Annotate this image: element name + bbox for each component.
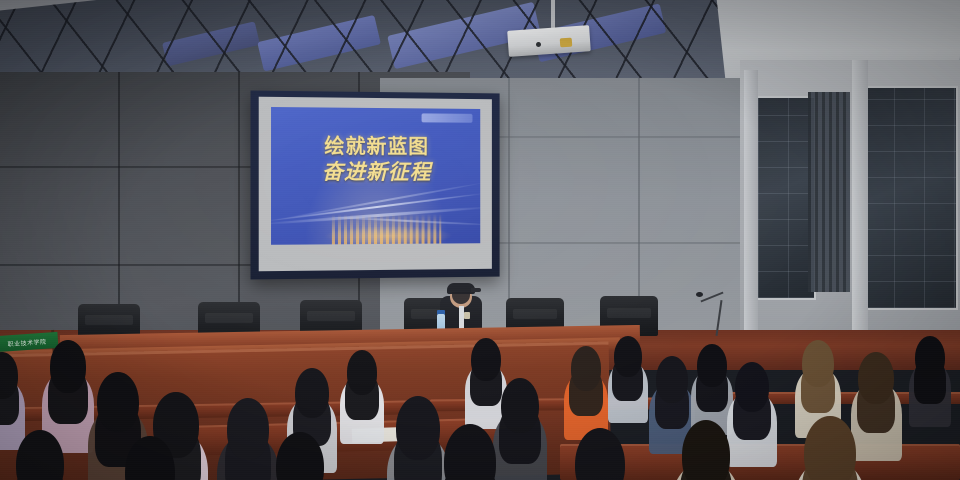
audience-member-head — [656, 356, 688, 403]
audience-member-head — [444, 424, 496, 480]
audience-member-head — [682, 420, 731, 480]
audience-member — [340, 350, 384, 451]
audience-member — [433, 424, 508, 480]
audience-member-head — [295, 368, 330, 418]
audience-member-head — [97, 372, 139, 432]
audience-member — [266, 432, 334, 480]
conference-hall-photo: 绘就新蓝图 奋进新征程 职业技术学院 — [0, 0, 960, 480]
audience-member-head — [915, 336, 945, 379]
audience-member-head — [571, 346, 602, 391]
audience-member-head — [16, 430, 64, 480]
audience-member-head — [802, 340, 834, 387]
audience-member — [608, 336, 649, 430]
audience-member-head — [614, 336, 643, 377]
audience-group — [0, 0, 960, 480]
audience-member-head — [276, 432, 324, 480]
audience-member-head — [575, 428, 625, 480]
audience-member-head — [804, 416, 855, 480]
audience-member-head — [347, 350, 378, 395]
audience-member-head — [697, 344, 727, 387]
audience-member-head — [125, 436, 175, 480]
audience-member — [114, 436, 185, 480]
audience-member-head — [735, 362, 770, 412]
audience-member-head — [50, 340, 87, 393]
audience-member — [6, 430, 74, 480]
audience-member — [671, 420, 741, 480]
audience-member-head — [858, 352, 894, 404]
audience-member — [793, 416, 866, 480]
audience-member-head — [227, 398, 270, 460]
audience-member — [564, 428, 635, 480]
audience-member — [909, 336, 952, 434]
audience-member-head — [471, 338, 501, 381]
